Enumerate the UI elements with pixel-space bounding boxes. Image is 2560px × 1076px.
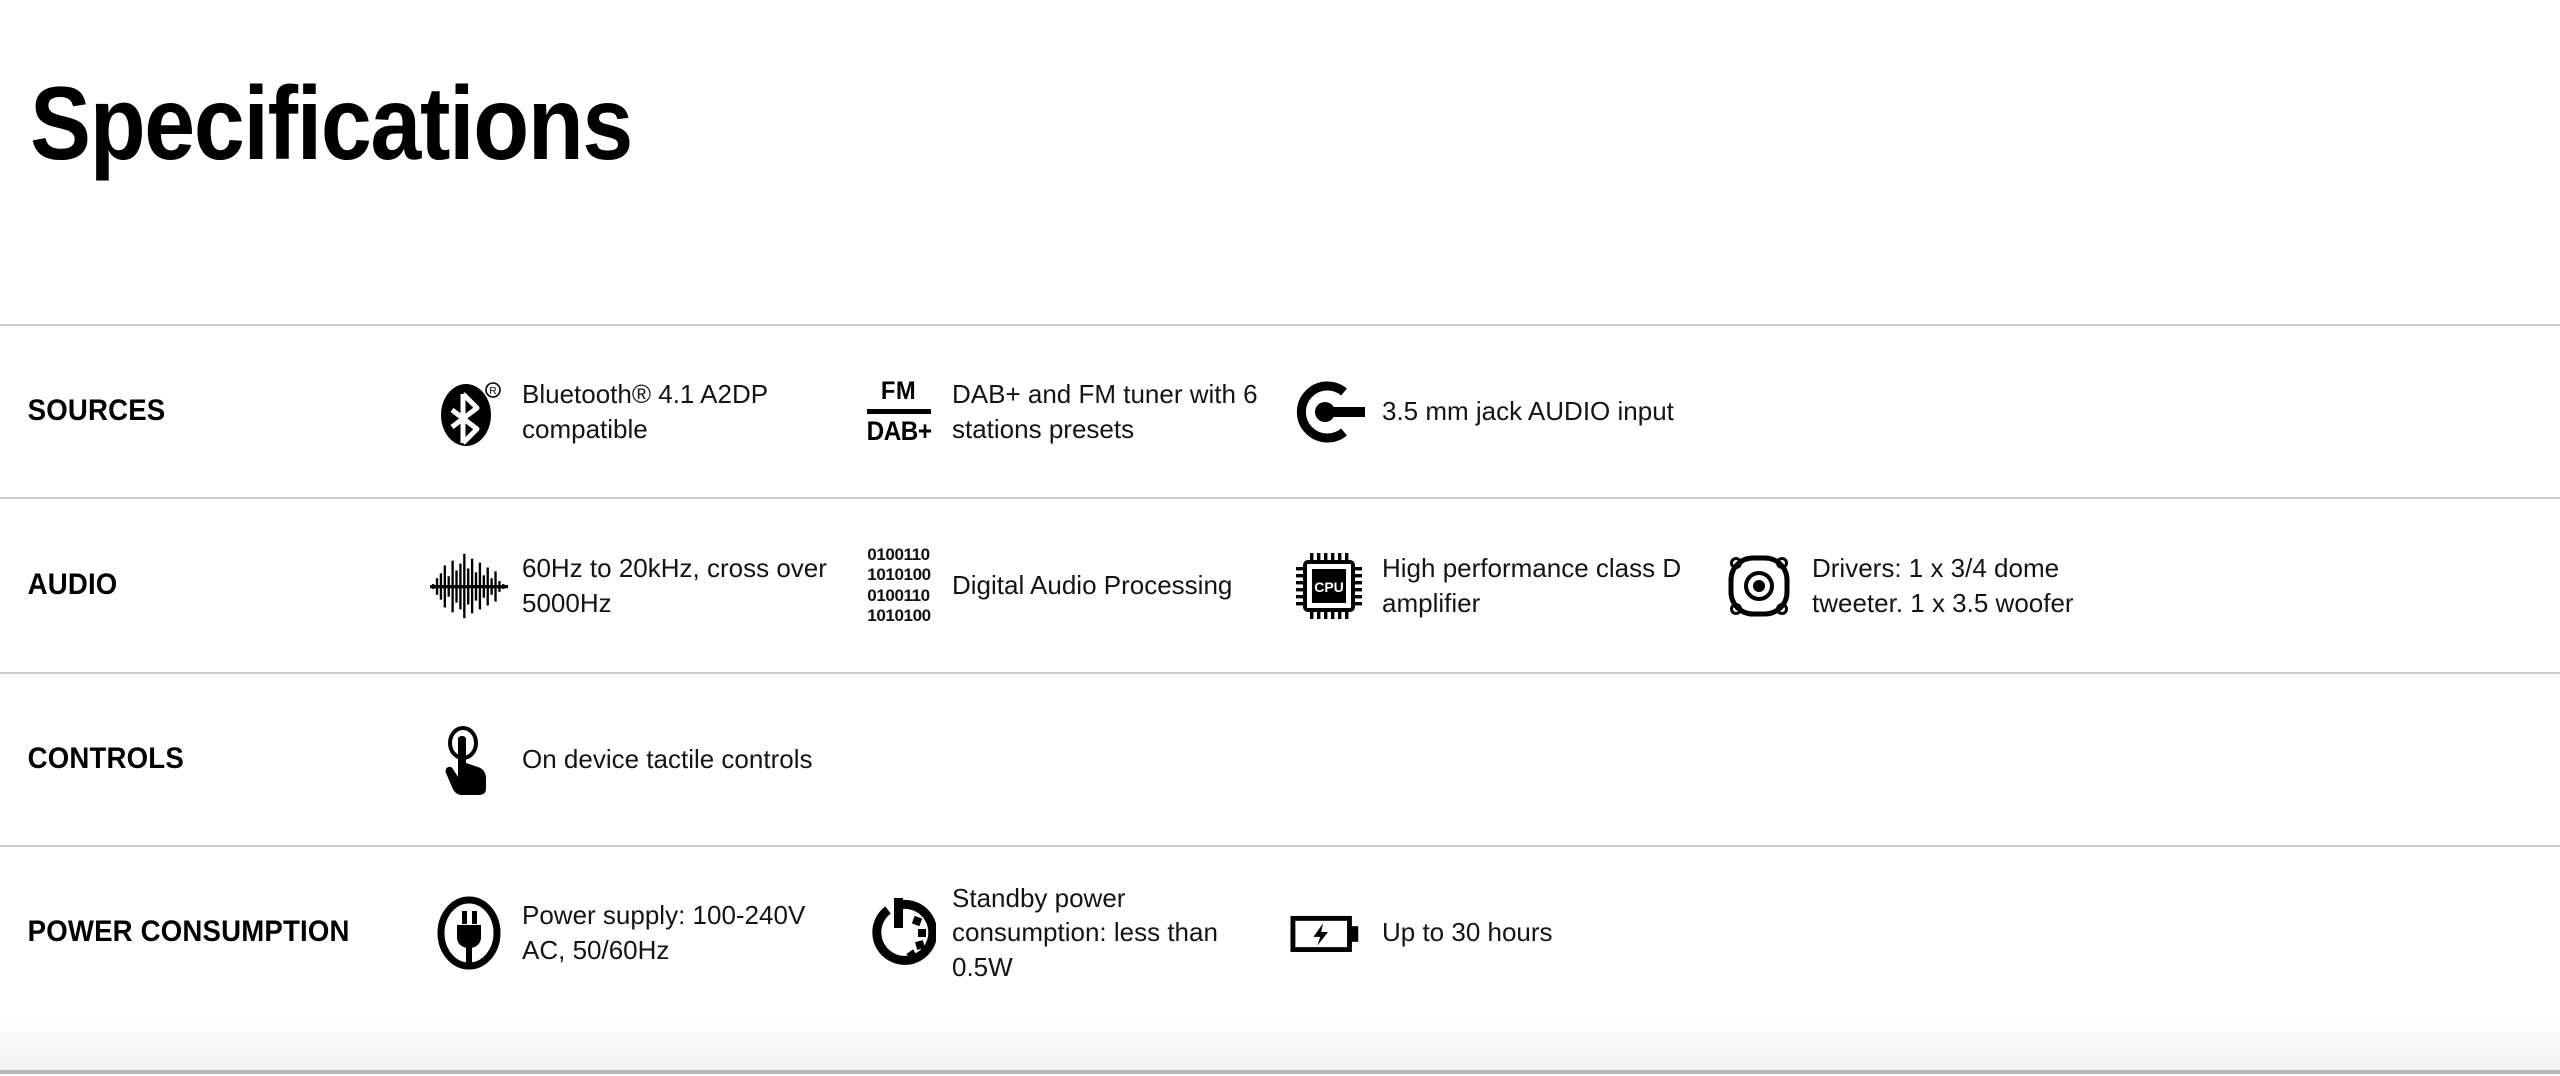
binary-code-icon: 0100110 1010100 0100110 1010100 — [860, 547, 938, 625]
binary-line: 0100110 — [867, 545, 930, 565]
row-cells: On device tactile controls — [430, 721, 2560, 799]
binary-line: 0100110 — [867, 586, 930, 606]
spec-item-controls: On device tactile controls — [430, 721, 860, 799]
spec-item-text: Standby power consumption: less than 0.5… — [952, 881, 1282, 984]
svg-text:CPU: CPU — [1314, 579, 1344, 595]
spec-item-frequency-response: 60Hz to 20kHz, cross over 5000Hz — [430, 547, 860, 625]
cpu-chip-icon: CPU — [1290, 547, 1368, 625]
row-cells: Power supply: 100-240V AC, 50/60Hz — [430, 881, 2560, 984]
svg-text:R: R — [489, 386, 496, 397]
binary-line: 1010100 — [867, 606, 930, 626]
spec-item-text: 3.5 mm jack AUDIO input — [1382, 394, 1674, 428]
row-label-audio: AUDIO — [0, 565, 396, 606]
spec-item-standby-power: Standby power consumption: less than 0.5… — [860, 881, 1290, 984]
spec-item-text: On device tactile controls — [522, 742, 812, 776]
specifications-page: Specifications SOURCES R Bluet — [0, 0, 2560, 1076]
spec-item-text: DAB+ and FM tuner with 6 stations preset… — [952, 377, 1282, 446]
spec-item-bluetooth: R Bluetooth® 4.1 A2DP compatible — [430, 373, 860, 451]
page-title: Specifications — [30, 72, 632, 176]
row-label-controls: CONTROLS — [0, 739, 396, 780]
row-cells: 60Hz to 20kHz, cross over 5000Hz 0100110… — [430, 547, 2560, 625]
binary-line: 1010100 — [867, 565, 930, 585]
divider-bar — [867, 409, 931, 414]
table-row: CONTROLS On device tactile controls — [0, 672, 2560, 845]
waveform-icon — [430, 547, 508, 625]
battery-charge-icon — [1290, 894, 1368, 972]
standby-power-icon — [860, 894, 938, 972]
power-plug-icon — [430, 894, 508, 972]
fm-dab-icon: FM DAB+ — [860, 373, 938, 451]
spec-item-text: High performance class D amplifier — [1382, 551, 1712, 620]
spec-item-text: 60Hz to 20kHz, cross over 5000Hz — [522, 551, 852, 620]
speaker-driver-icon — [1720, 547, 1798, 625]
row-label-power-consumption: POWER CONSUMPTION — [0, 912, 396, 953]
table-row: AUDIO — [0, 497, 2560, 672]
touch-hand-icon — [430, 721, 508, 799]
specifications-table: SOURCES R Bluetooth® 4.1 A2DP compatible — [0, 324, 2560, 1018]
dab-label: DAB+ — [866, 418, 931, 445]
bottom-fade — [0, 1018, 2560, 1074]
row-label-sources: SOURCES — [0, 391, 396, 432]
spec-item-text: Bluetooth® 4.1 A2DP compatible — [522, 377, 852, 446]
spec-item-text: Digital Audio Processing — [952, 568, 1232, 602]
bluetooth-icon: R — [430, 373, 508, 451]
bottom-divider — [0, 1070, 2560, 1074]
spec-item-text: Power supply: 100-240V AC, 50/60Hz — [522, 898, 852, 967]
spec-item-power-supply: Power supply: 100-240V AC, 50/60Hz — [430, 894, 860, 972]
spec-item-fm-dab: FM DAB+ DAB+ and FM tuner with 6 station… — [860, 373, 1290, 451]
fm-label: FM — [881, 379, 916, 404]
table-row: POWER CONSUMPTION Power supply: 100-240V… — [0, 845, 2560, 1018]
table-row: SOURCES R Bluetooth® 4.1 A2DP compatible — [0, 324, 2560, 497]
spec-item-audio-jack: 3.5 mm jack AUDIO input — [1290, 373, 1720, 451]
spec-item-battery-life: Up to 30 hours — [1290, 894, 1720, 972]
spec-item-text: Up to 30 hours — [1382, 915, 1553, 949]
audio-jack-icon — [1290, 373, 1368, 451]
spec-item-text: Drivers: 1 x 3/4 dome tweeter. 1 x 3.5 w… — [1812, 551, 2142, 620]
row-cells: R Bluetooth® 4.1 A2DP compatible FM DAB+… — [430, 373, 2560, 451]
spec-item-amplifier: CPU High performance class D amplifier — [1290, 547, 1720, 625]
spec-item-drivers: Drivers: 1 x 3/4 dome tweeter. 1 x 3.5 w… — [1720, 547, 2150, 625]
spec-item-dsp: 0100110 1010100 0100110 1010100 Digital … — [860, 547, 1290, 625]
